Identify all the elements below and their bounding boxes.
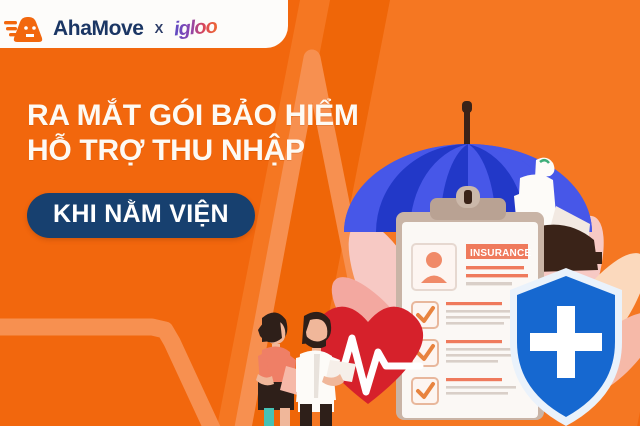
svg-text:INSURANCE: INSURANCE [470,248,531,259]
background-wedge [217,0,640,426]
igloo-wordmark: igloo [174,17,218,40]
highlight-pill-label: KHI NẰM VIỆN [53,202,229,227]
desk-figure [498,158,602,272]
petal-shapes [317,190,640,412]
umbrella-icon [344,101,592,232]
partnership-separator: X [155,21,164,36]
headline-line-1: RA MẮT GÓI BẢO HIỂM [27,98,359,133]
headline-line-2: HỖ TRỢ THU NHẬP [27,133,359,168]
ahamove-mark-icon [4,14,44,42]
shield-icon [510,268,622,426]
highlight-pill: KHI NẰM VIỆN [27,193,255,238]
background-wedge-dark [247,0,390,426]
person-woman [256,312,314,426]
logo-row: AhaMove X igloo [4,14,217,42]
page-title: RA MẮT GÓI BẢO HIỂM HỖ TRỢ THU NHẬP [27,98,359,169]
person-doctor [296,312,356,426]
brand-header-card: AhaMove X igloo [0,0,288,48]
ahamove-wordmark: AhaMove [53,18,144,39]
clipboard: INSURANCE [396,186,544,420]
heart-icon [313,307,423,404]
promo-banner: INSURANCE [0,0,640,426]
